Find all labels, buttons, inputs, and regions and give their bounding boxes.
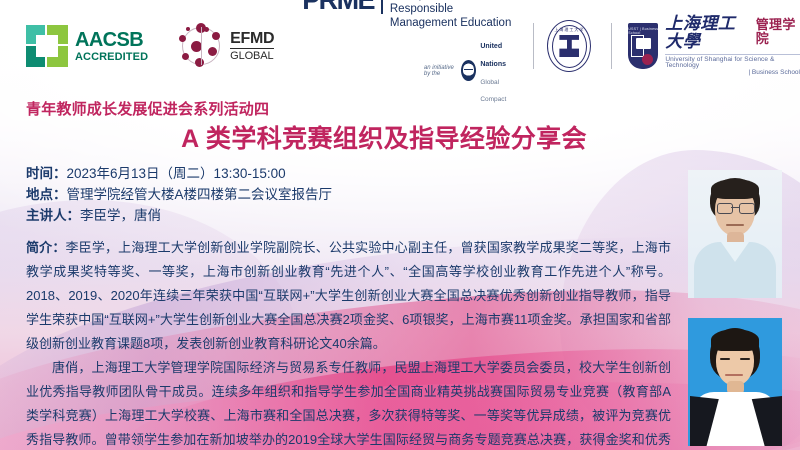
- info-row-place: 地点：管理学院经管大楼A楼四楼第二会议室报告厅: [26, 184, 666, 205]
- bio-paragraph-1: 简介：李臣学，上海理工大学创新创业学院副院长、公共实验中心副主任，曾获国家教学成…: [26, 236, 671, 356]
- usst-cn-name: 上海理工大學: [665, 15, 752, 51]
- un-global-compact-lockup: an initiative by the United Nations Glob…: [424, 35, 513, 105]
- event-info-block: 时间：2023年6月13日（周二）13:30-15:00 地点：管理学院经管大楼…: [26, 163, 666, 226]
- usst-en-name: University of Shanghai for Science & Tec…: [665, 54, 800, 71]
- prme-subtitle-line2: Management Education: [390, 16, 513, 30]
- prme-subtitle-line1: Principles for Responsible: [390, 0, 513, 16]
- globe-icon: [461, 60, 476, 81]
- place-value: 管理学院经管大楼A楼四楼第二会议室报告厅: [67, 187, 333, 202]
- time-value: 2023年6月13日（周二）13:30-15:00: [67, 166, 286, 181]
- aacsb-logo: AACSB ACCREDITED: [26, 25, 148, 67]
- global-compact-label: Global Compact: [480, 79, 506, 104]
- bio-lead-label: 简介：: [26, 240, 66, 255]
- logo-bar: AACSB ACCREDITED EFMD GLOBAL: [0, 0, 800, 92]
- aacsb-mark-icon: [26, 25, 68, 67]
- usst-shield-icon: USST | Business School: [628, 23, 658, 69]
- logo-divider-2: [611, 23, 612, 69]
- efmd-global-label: GLOBAL: [230, 51, 274, 62]
- speaker-label: 主讲人：: [26, 208, 80, 223]
- usst-cn-school: 管理学院: [756, 18, 800, 45]
- usst-shield-seal-dot: [642, 54, 653, 65]
- usst-seal-top-text: 上海理工大学: [554, 27, 584, 33]
- usst-shield-glyph: [631, 35, 644, 57]
- usst-en-school: | Business School: [665, 70, 800, 77]
- time-label: 时间：: [26, 166, 67, 181]
- poster-root: AACSB ACCREDITED EFMD GLOBAL: [0, 0, 800, 450]
- bio-paragraph-2: 唐俏，上海理工大学管理学院国际经济与贸易系专任教师，民盟上海理工大学委员会委员，…: [26, 356, 671, 450]
- united-nations-label: United Nations: [480, 43, 506, 68]
- prme-wordmark: PRME: [302, 0, 383, 14]
- event-series-kicker: 青年教师成长发展促进会系列活动四: [26, 98, 269, 119]
- place-label: 地点：: [26, 187, 67, 202]
- efmd-network-icon: [178, 23, 224, 69]
- aacsb-accredited-label: ACCREDITED: [75, 52, 148, 63]
- prme-initiative-label: an initiative by the: [424, 65, 455, 77]
- usst-shield-caption: USST | Business School: [628, 27, 658, 35]
- speaker-photo-tang-qiao: [688, 318, 782, 446]
- usst-seal-icon: 上海理工大学: [547, 20, 591, 72]
- usst-seal-glyph: [559, 35, 579, 57]
- usst-business-school-logo: USST | Business School 上海理工大學 管理学院 Unive…: [628, 15, 800, 77]
- info-row-time: 时间：2023年6月13日（周二）13:30-15:00: [26, 163, 666, 184]
- efmd-logo: EFMD GLOBAL: [178, 23, 274, 69]
- page-title: A 类学科竞赛组织及指导经验分享会: [0, 119, 768, 155]
- speaker-photo-li-chenxue: [688, 170, 782, 298]
- efmd-label: EFMD: [230, 31, 274, 49]
- logo-divider-1: [533, 23, 534, 69]
- speaker-value: 李臣学，唐俏: [80, 208, 161, 223]
- aacsb-label: AACSB: [75, 30, 148, 50]
- prme-logo: PRME Principles for Responsible Manageme…: [302, 0, 512, 106]
- bio-paragraph-1-text: 李臣学，上海理工大学创新创业学院副院长、公共实验中心副主任，曾获国家教学成果奖二…: [26, 240, 671, 351]
- info-row-speaker: 主讲人：李臣学，唐俏: [26, 205, 666, 226]
- speaker-bio-block: 简介：李臣学，上海理工大学创新创业学院副院长、公共实验中心副主任，曾获国家教学成…: [26, 236, 671, 450]
